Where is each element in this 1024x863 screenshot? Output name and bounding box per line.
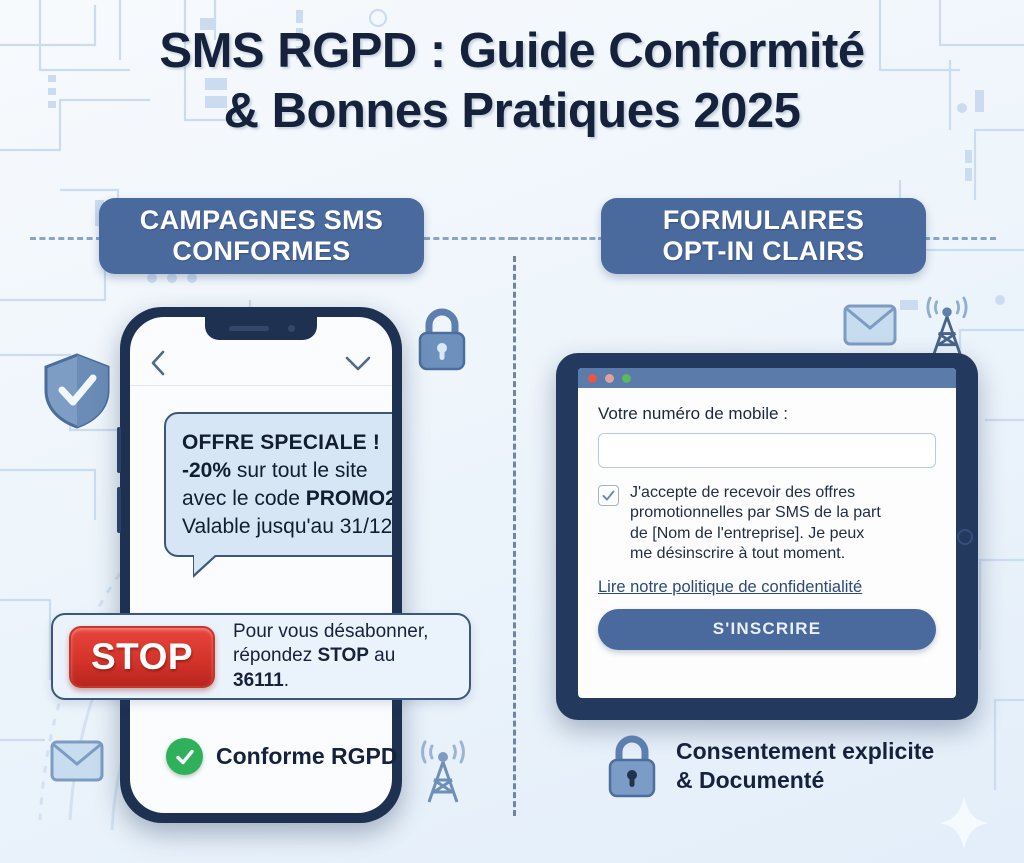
consent-footer-line2: & Documenté	[676, 766, 934, 795]
sms-line-validity: Valable jusqu'au 31/12.	[182, 513, 392, 541]
divider-center-left-horizontal	[424, 237, 514, 240]
cell-tower-icon	[918, 296, 976, 358]
sms-line-code: avec le code PROMO25.	[182, 485, 392, 513]
sms-line-discount: -20% sur tout le site	[182, 457, 392, 485]
stop-text-line2-pre: répondez	[233, 645, 318, 666]
sms-line-offer: OFFRE SPECIALE !	[182, 429, 392, 457]
consent-footer-text: Consentement explicite & Documenté	[676, 737, 934, 795]
padlock-icon	[604, 733, 660, 799]
stop-badge: STOP	[69, 626, 215, 688]
cell-tower-icon	[412, 740, 474, 806]
tablet-screen: Votre numéro de mobile : J'accepte de re…	[578, 368, 956, 698]
submit-button[interactable]: S'INSCRIRE	[598, 609, 936, 650]
phone-side-button	[117, 427, 121, 473]
chevron-left-icon[interactable]	[150, 350, 166, 376]
padlock-icon	[414, 306, 470, 372]
check-circle-icon	[166, 738, 203, 775]
consent-footer: Consentement explicite & Documenté	[604, 733, 934, 799]
section-header-right: FORMULAIRES OPT-IN CLAIRS	[601, 198, 926, 274]
tablet-mockup: Votre numéro de mobile : J'accepte de re…	[556, 353, 978, 720]
phone-topbar	[130, 341, 392, 386]
section-header-left: CAMPAGNES SMS CONFORMES	[99, 198, 424, 274]
stop-text-line3: 36111.	[233, 669, 428, 693]
divider-left-horizontal	[30, 237, 102, 240]
sms-message-bubble: OFFRE SPECIALE ! -20% sur tout le site a…	[164, 412, 392, 557]
compliance-badge: Conforme RGPD	[166, 738, 397, 775]
section-header-right-line2: OPT-IN CLAIRS	[663, 236, 865, 267]
stop-keyword: STOP	[318, 645, 369, 666]
consent-line-1: J'accepte de recevoir des offres	[630, 483, 881, 503]
stop-text-line1: Pour vous désabonner,	[233, 620, 428, 644]
divider-center-vertical	[513, 256, 516, 816]
consent-footer-line1: Consentement explicite	[676, 737, 934, 766]
divider-right-horizontal	[924, 237, 996, 240]
sms-promo-code: PROMO25	[306, 487, 392, 510]
sms-code-pre: avec le code	[182, 487, 306, 510]
phone-notch	[205, 317, 317, 340]
section-header-left-line2: CONFORMES	[140, 236, 383, 267]
consent-row: J'accepte de recevoir des offres promoti…	[598, 483, 936, 565]
compliance-badge-label: Conforme RGPD	[216, 743, 397, 770]
browser-close-dot[interactable]	[588, 374, 597, 383]
phone-camera	[288, 325, 295, 332]
sparkle-icon	[938, 795, 990, 851]
stop-text-line2: répondez STOP au	[233, 644, 428, 668]
consent-checkbox[interactable]	[598, 485, 619, 506]
stop-text-line2-post: au	[369, 645, 395, 666]
browser-minimize-dot[interactable]	[605, 374, 614, 383]
title-line-2: & Bonnes Pratiques 2025	[0, 82, 1024, 142]
phone-side-button	[117, 487, 121, 533]
section-header-right-line1: FORMULAIRES	[663, 205, 865, 236]
consent-text: J'accepte de recevoir des offres promoti…	[630, 483, 881, 565]
consent-line-2: promotionnelles par SMS de la part	[630, 503, 881, 523]
envelope-icon	[843, 304, 897, 346]
infographic-canvas: SMS RGPD : Guide Conformité & Bonnes Pra…	[0, 0, 1024, 863]
phone-speaker	[229, 326, 269, 331]
stop-optout-card: STOP Pour vous désabonner, répondez STOP…	[51, 613, 471, 700]
chevron-down-icon[interactable]	[344, 354, 372, 372]
shield-check-icon	[42, 352, 112, 430]
browser-titlebar	[578, 368, 956, 388]
stop-shortcode: 36111	[233, 670, 284, 691]
envelope-icon	[50, 740, 104, 782]
mobile-number-input[interactable]	[598, 433, 936, 468]
divider-center-right-horizontal	[512, 237, 604, 240]
tablet-home-button	[957, 529, 973, 545]
optin-form: Votre numéro de mobile : J'accepte de re…	[578, 388, 956, 650]
stop-instruction-text: Pour vous désabonner, répondez STOP au 3…	[233, 620, 428, 693]
browser-maximize-dot[interactable]	[622, 374, 631, 383]
sms-discount-value: -20%	[182, 459, 231, 482]
stop-text-line3-post: .	[284, 670, 289, 691]
consent-line-3: de [Nom de l'entreprise]. Je peux	[630, 524, 881, 544]
page-title: SMS RGPD : Guide Conformité & Bonnes Pra…	[0, 22, 1024, 142]
section-header-left-line1: CAMPAGNES SMS	[140, 205, 383, 236]
consent-line-4: me désinscrire à tout moment.	[630, 544, 881, 564]
mobile-number-label: Votre numéro de mobile :	[598, 404, 936, 424]
privacy-policy-link[interactable]: Lire notre politique de confidentialité	[598, 578, 862, 597]
title-line-1: SMS RGPD : Guide Conformité	[0, 22, 1024, 82]
sms-discount-rest: sur tout le site	[231, 459, 368, 482]
